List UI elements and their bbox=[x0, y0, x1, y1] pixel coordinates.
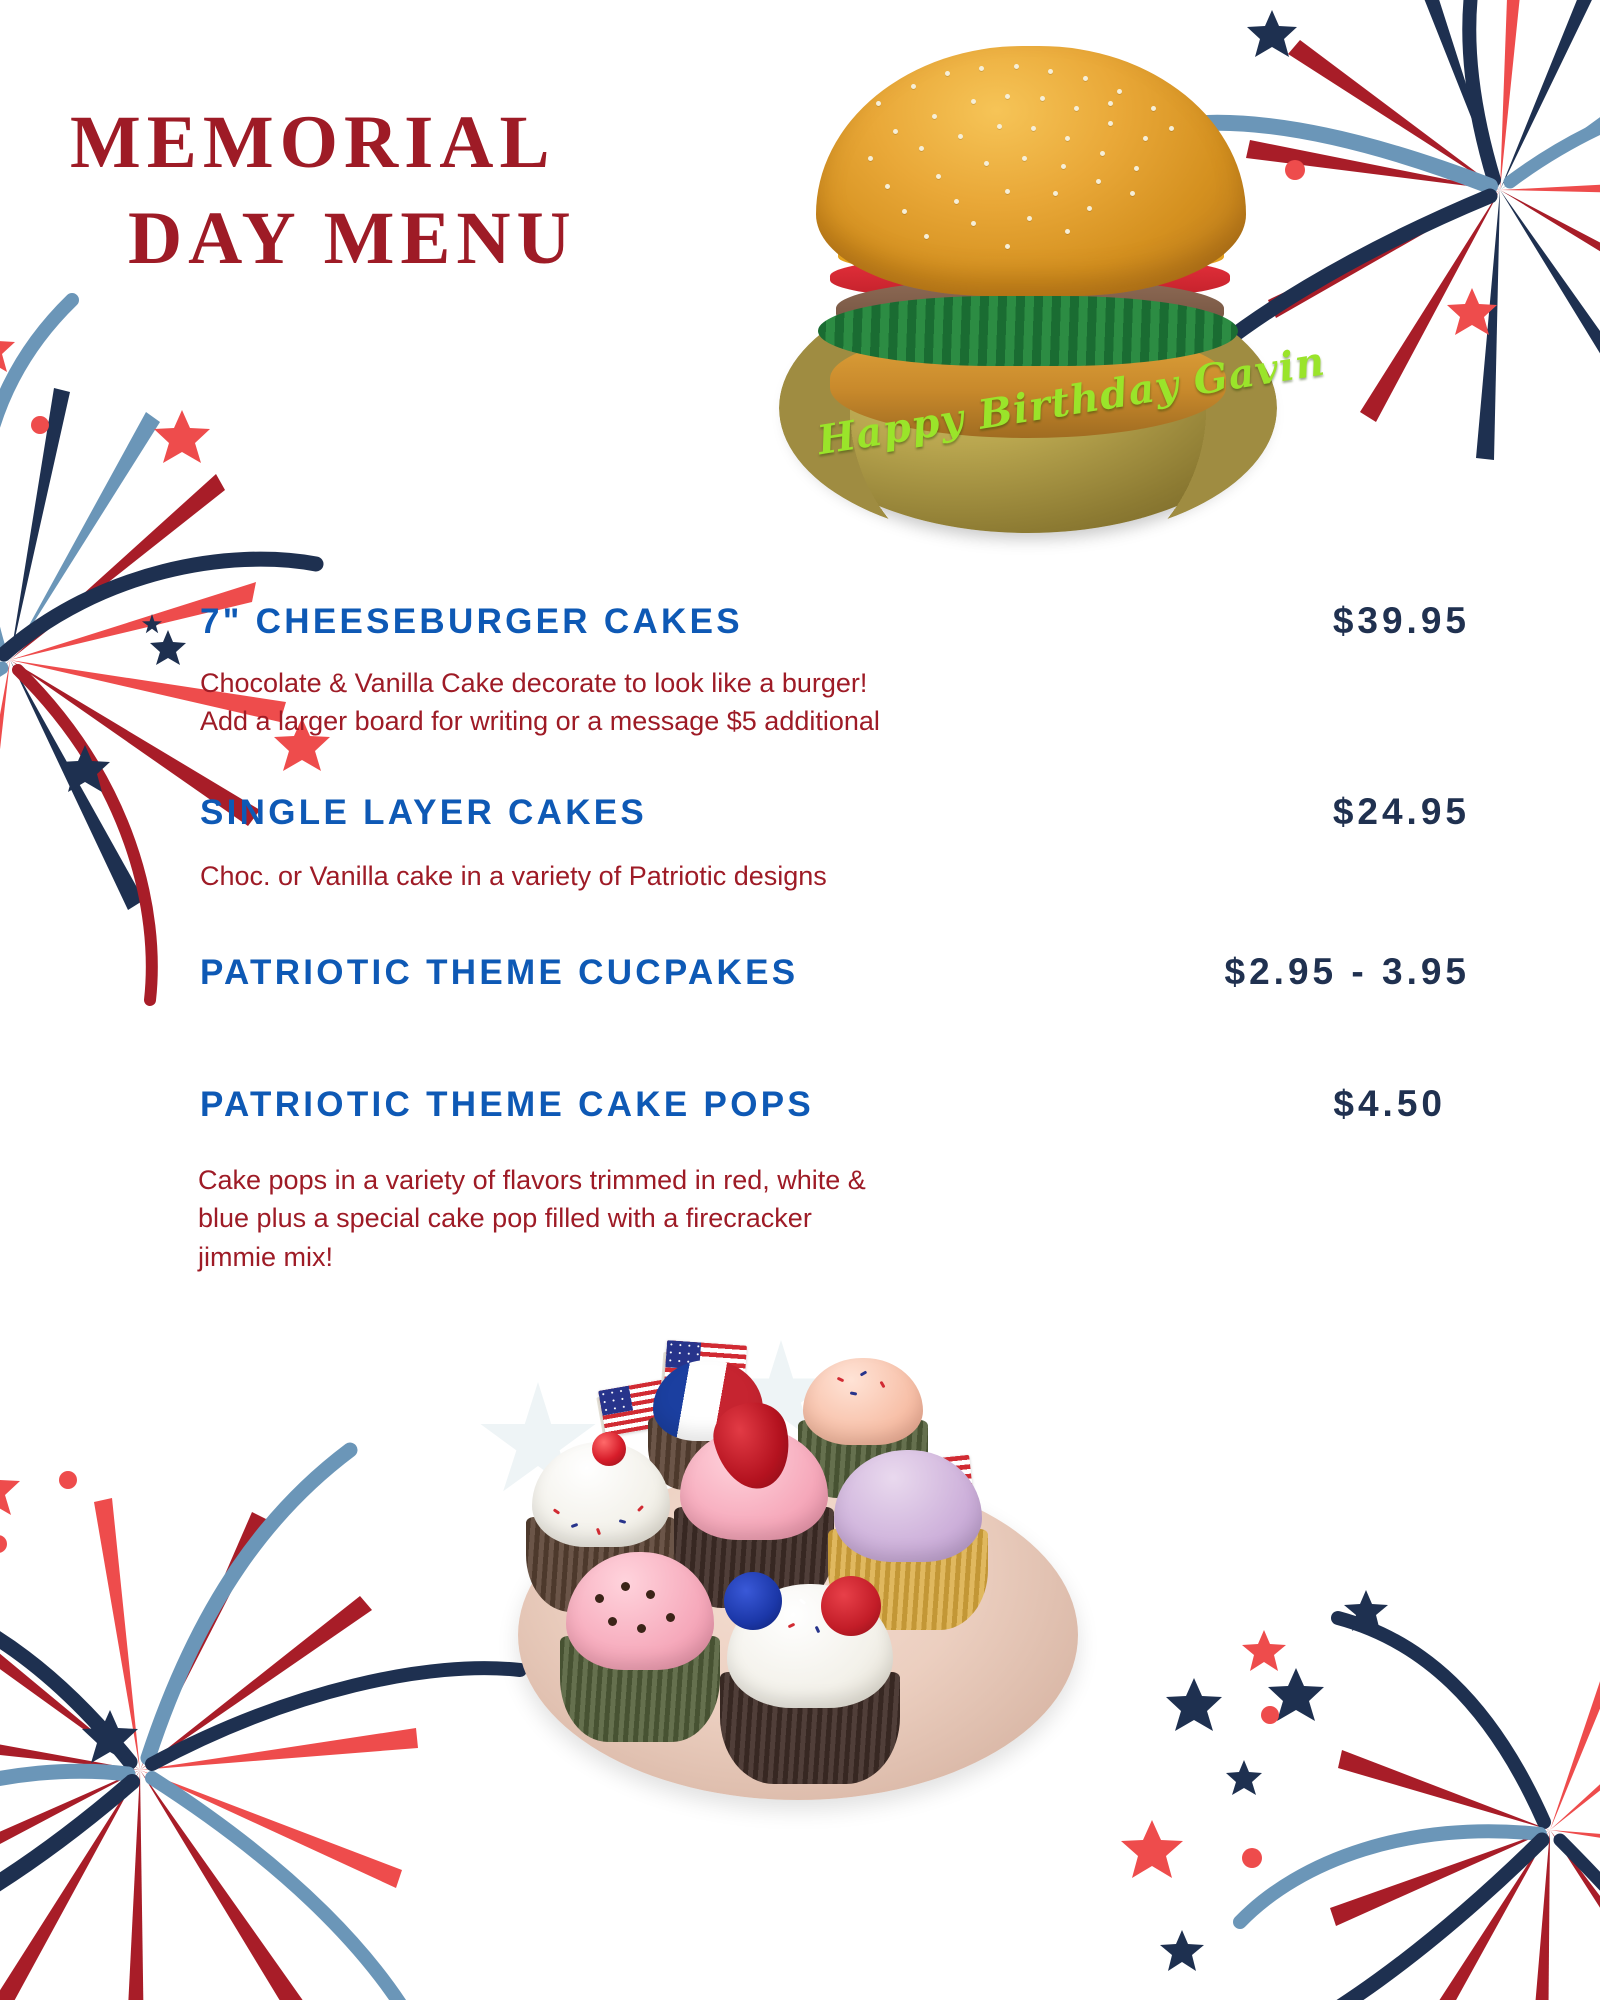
memorial-day-menu-flyer: MEMORIAL DAY MENU bbox=[0, 0, 1600, 2000]
flag-canton bbox=[598, 1386, 633, 1416]
choc-chip bbox=[608, 1617, 617, 1626]
menu-item-price: $24.95 bbox=[1333, 791, 1470, 833]
firework-bottom-left bbox=[0, 1440, 460, 2000]
sprinkle bbox=[850, 1391, 857, 1395]
cupcake-frosting bbox=[566, 1552, 713, 1670]
choc-chip bbox=[666, 1613, 675, 1622]
description-line: Cake pops in a variety of flavors trimme… bbox=[198, 1161, 1470, 1199]
choc-chip bbox=[595, 1594, 604, 1603]
title-line-2: DAY MENU bbox=[70, 191, 790, 287]
menu-item-name: SINGLE LAYER CAKES bbox=[200, 793, 647, 833]
choc-chip bbox=[637, 1624, 646, 1633]
cheeseburger-cake-photo: Happy Birthday Gavin bbox=[768, 28, 1288, 588]
description-line: Add a larger board for writing or a mess… bbox=[200, 702, 1470, 740]
description-line: jimmie mix! bbox=[198, 1238, 1470, 1276]
bun-top bbox=[816, 46, 1246, 296]
description-line: blue plus a special cake pop filled with… bbox=[198, 1199, 1470, 1237]
cupcake-red-white-blue-rosette bbox=[720, 1584, 900, 1784]
cherry-topping bbox=[592, 1432, 626, 1466]
menu-item-price: $39.95 bbox=[1333, 600, 1470, 642]
menu-item-name: PATRIOTIC THEME CUCPAKES bbox=[200, 953, 798, 993]
menu-item[interactable]: PATRIOTIC THEME CUCPAKES $2.95 - 3.95 bbox=[0, 951, 1600, 993]
cupcake-frosting bbox=[834, 1450, 981, 1562]
patriotic-cupcakes-platter-photo bbox=[498, 1300, 1098, 1860]
menu-item-name: 7" CHEESEBURGER CAKES bbox=[200, 602, 743, 642]
menu-item-name: PATRIOTIC THEME CAKE POPS bbox=[200, 1085, 814, 1125]
title-line-1: MEMORIAL bbox=[70, 95, 790, 191]
red-rosette bbox=[821, 1576, 881, 1636]
description-line: Chocolate & Vanilla Cake decorate to loo… bbox=[200, 664, 1470, 702]
sesame-seeds bbox=[816, 46, 1246, 296]
menu-item[interactable]: PATRIOTIC THEME CAKE POPS $4.50 Cake pop… bbox=[0, 1083, 1600, 1276]
bullet-star-icon bbox=[142, 614, 162, 634]
menu-list: 7" CHEESEBURGER CAKES $39.95 Chocolate &… bbox=[0, 600, 1600, 1276]
firework-bottom-right bbox=[1230, 1570, 1600, 2000]
menu-item[interactable]: SINGLE LAYER CAKES $24.95 Choc. or Vanil… bbox=[0, 791, 1600, 895]
description-line: Choc. or Vanilla cake in a variety of Pa… bbox=[200, 857, 1470, 895]
menu-item[interactable]: 7" CHEESEBURGER CAKES $39.95 Chocolate &… bbox=[0, 600, 1600, 741]
menu-item-description: Choc. or Vanilla cake in a variety of Pa… bbox=[200, 857, 1470, 895]
page-title: MEMORIAL DAY MENU bbox=[70, 95, 790, 287]
lettuce-leaf bbox=[818, 296, 1238, 366]
menu-item-description: Cake pops in a variety of flavors trimme… bbox=[198, 1161, 1470, 1276]
menu-item-price: $4.50 bbox=[1333, 1083, 1446, 1125]
cupcake-pink-chocchip bbox=[560, 1552, 720, 1742]
menu-item-price: $2.95 - 3.95 bbox=[1225, 951, 1470, 993]
blue-rosette bbox=[724, 1572, 782, 1630]
menu-item-description: Chocolate & Vanilla Cake decorate to loo… bbox=[200, 664, 1470, 741]
